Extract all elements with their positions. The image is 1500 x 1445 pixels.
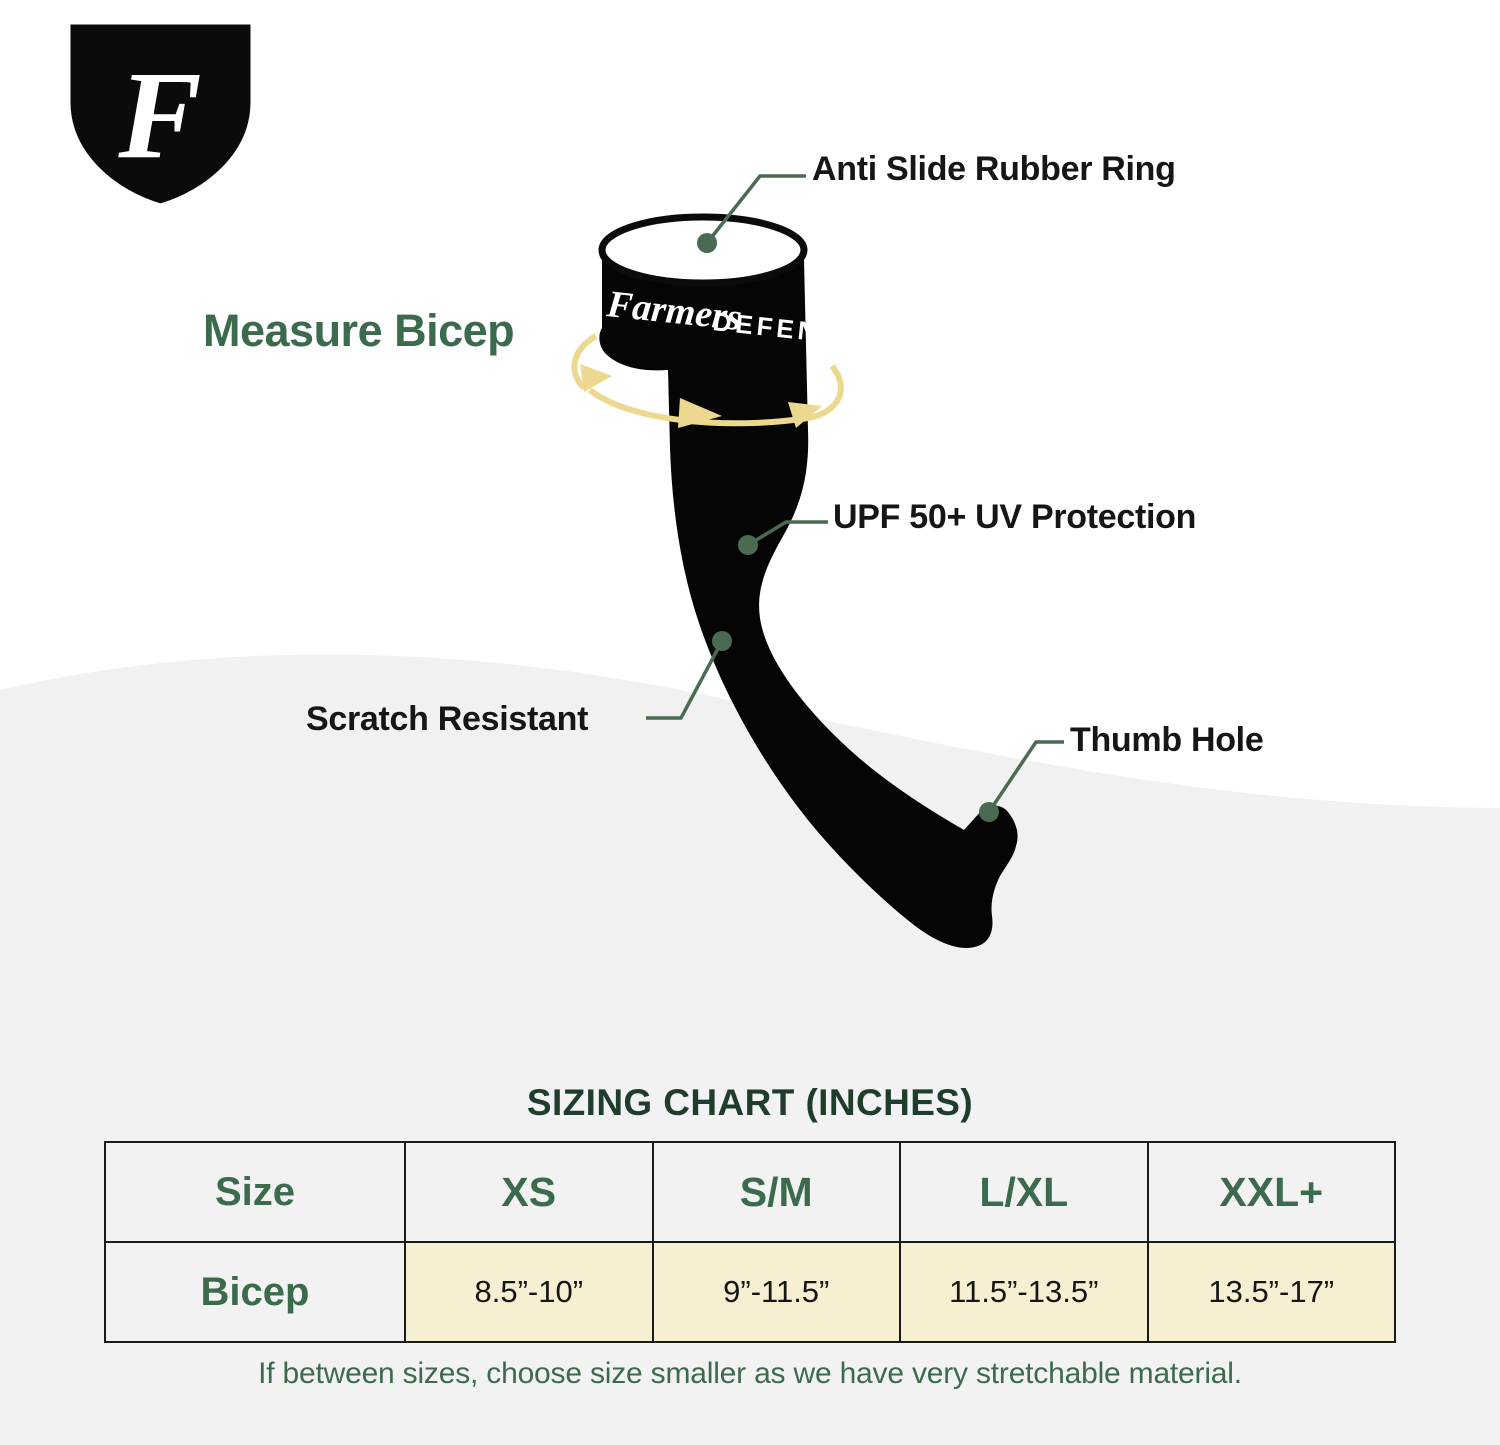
logo-letter: F — [117, 47, 201, 185]
table-cell-bicep-lxl: 11.5”-13.5” — [900, 1242, 1148, 1342]
sizing-infographic: F Farmers DEFENSE — [0, 0, 1500, 1445]
measure-bicep-label: Measure Bicep — [203, 305, 514, 357]
sizing-chart-table: Size XS S/M L/XL XXL+ Bicep 8.5”-10” 9”-… — [104, 1141, 1396, 1343]
callout-anti-slide-rubber-ring: Anti Slide Rubber Ring — [812, 150, 1176, 189]
callout-scratch-resistant: Scratch Resistant — [306, 700, 588, 739]
table-row: Bicep 8.5”-10” 9”-11.5” 11.5”-13.5” 13.5… — [105, 1242, 1395, 1342]
brand-logo-shield-icon: F — [58, 14, 263, 212]
table-header-sm: S/M — [653, 1142, 901, 1242]
table-header-row: Size XS S/M L/XL XXL+ — [105, 1142, 1395, 1242]
table-header-xs: XS — [405, 1142, 653, 1242]
table-cell-bicep-xxl: 13.5”-17” — [1148, 1242, 1396, 1342]
table-corner-header: Size — [105, 1142, 405, 1242]
callout-thumb-hole: Thumb Hole — [1070, 721, 1263, 760]
arm-sleeve-illustration: Farmers DEFENSE — [520, 190, 1080, 980]
table-row-label-bicep: Bicep — [105, 1242, 405, 1342]
table-cell-bicep-sm: 9”-11.5” — [653, 1242, 901, 1342]
sizing-chart-title: SIZING CHART (INCHES) — [0, 1082, 1500, 1124]
table-cell-bicep-xs: 8.5”-10” — [405, 1242, 653, 1342]
table-header-xxl: XXL+ — [1148, 1142, 1396, 1242]
table-header-lxl: L/XL — [900, 1142, 1148, 1242]
callout-upf-uv-protection: UPF 50+ UV Protection — [833, 498, 1196, 537]
sizing-chart-note: If between sizes, choose size smaller as… — [0, 1357, 1500, 1391]
